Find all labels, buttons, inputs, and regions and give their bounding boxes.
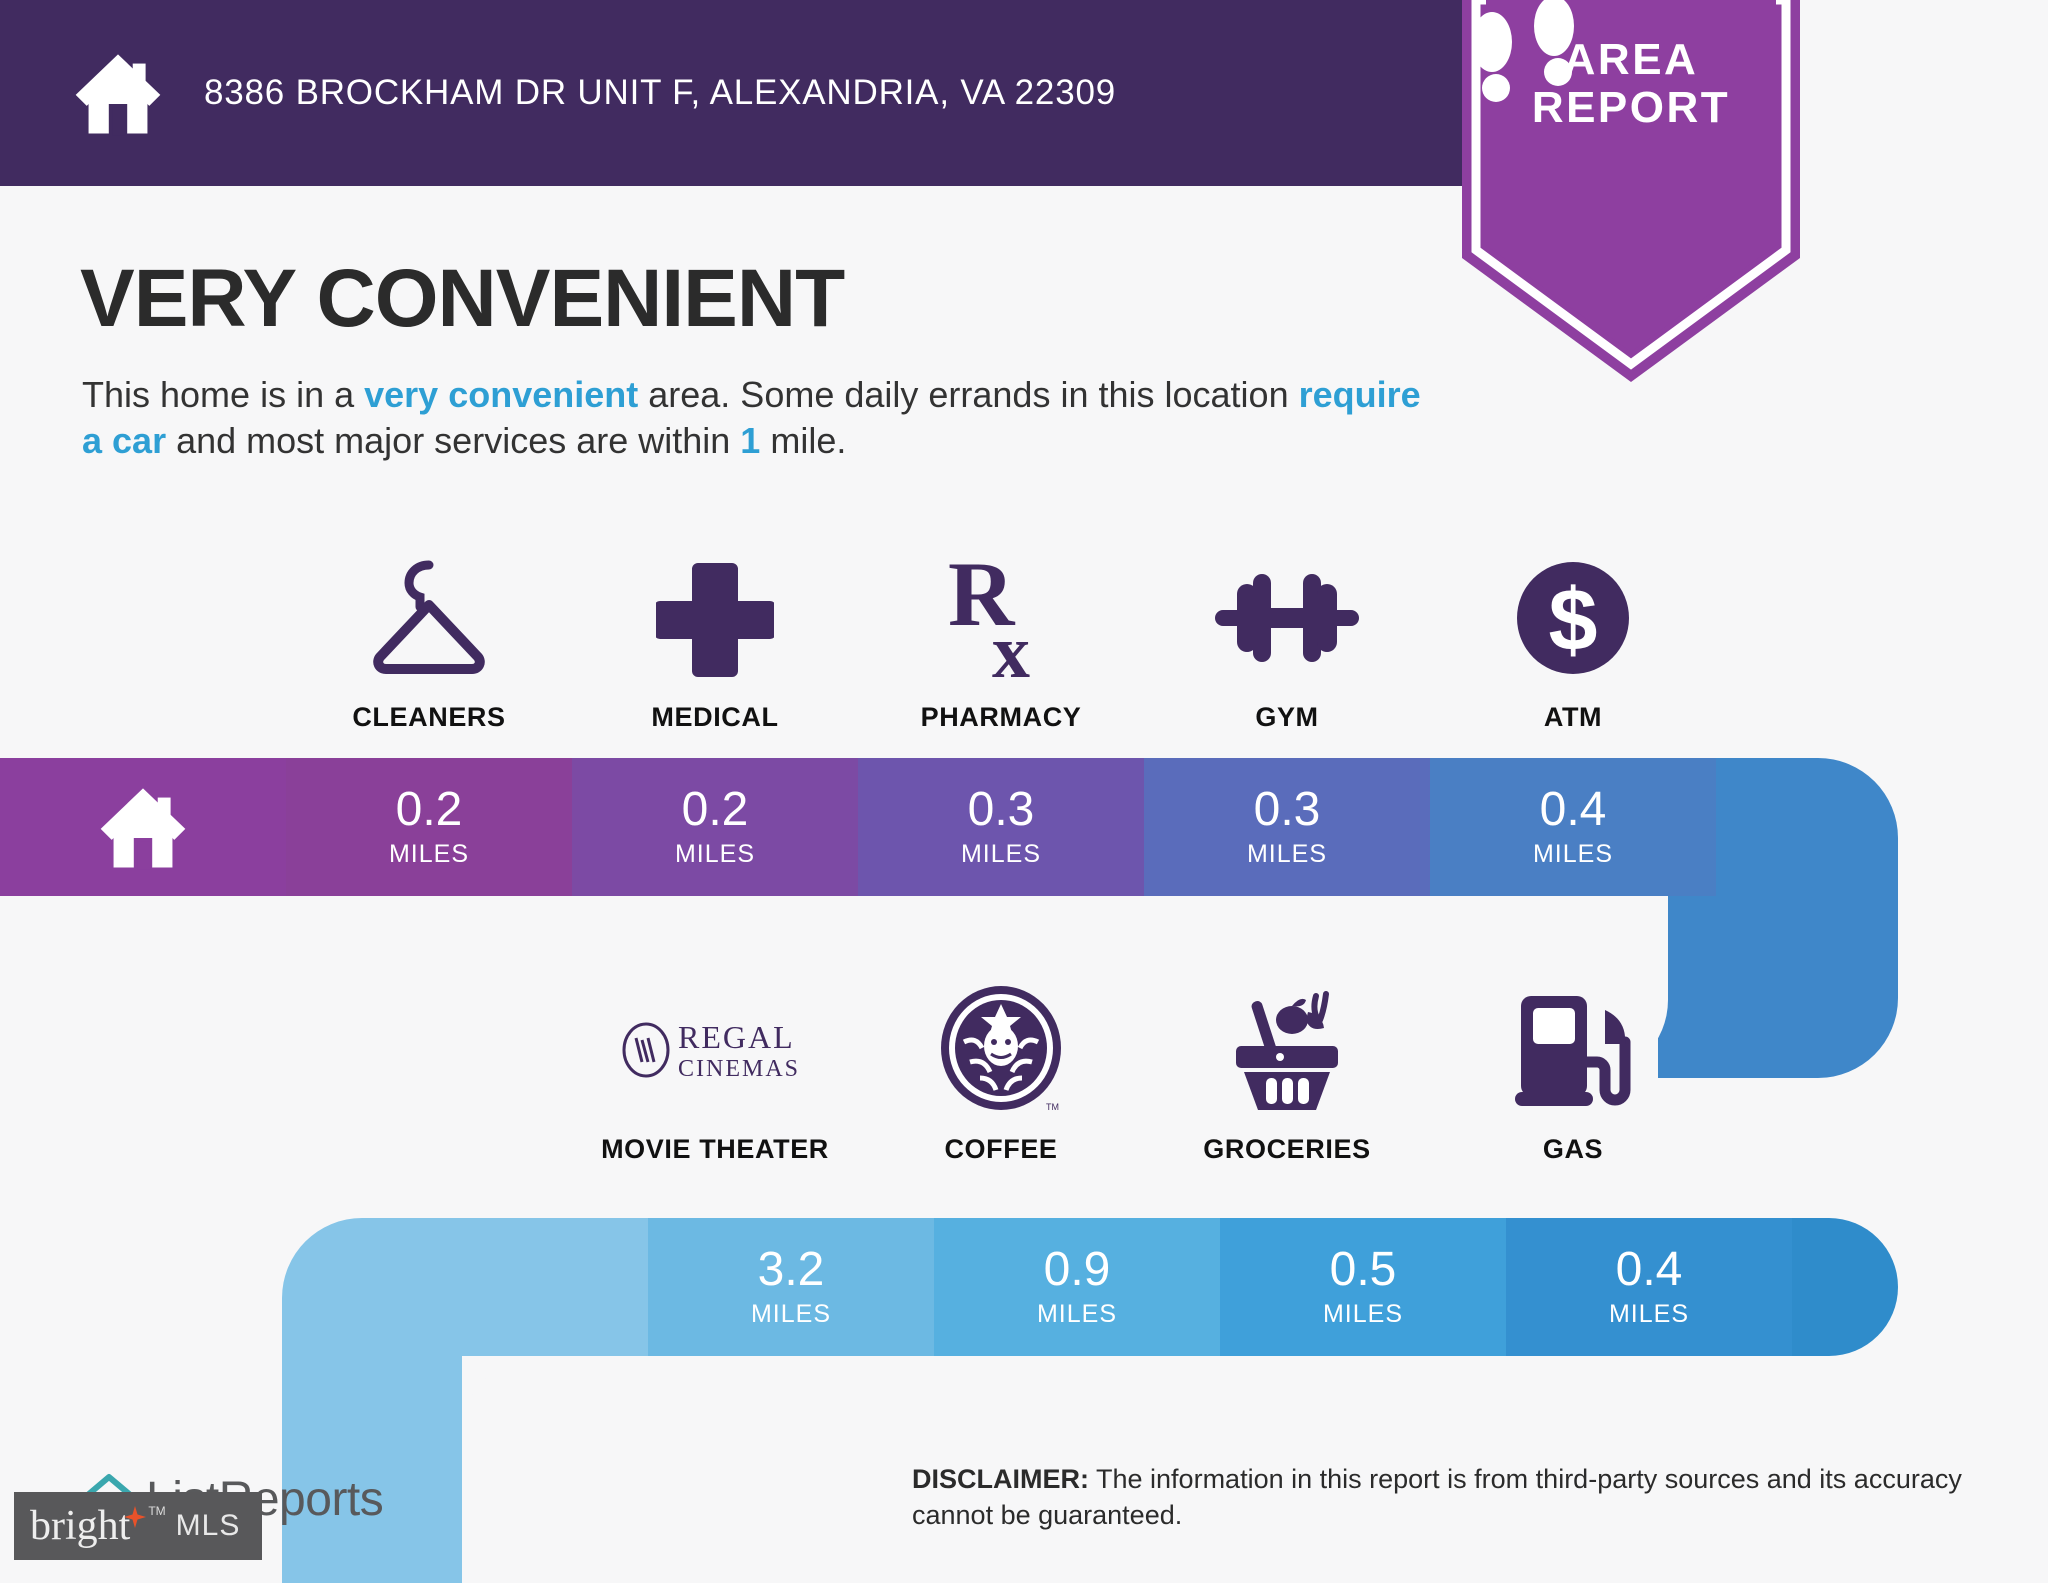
distance-value: 0.9 <box>1044 1246 1111 1294</box>
description-text: This home is in a very convenient area. … <box>82 372 1442 464</box>
distance-unit: MILES <box>1247 840 1327 869</box>
row2-spacer-b <box>286 980 572 1165</box>
desc-part-1: This home is in a <box>82 374 364 415</box>
distance-value: 3.2 <box>758 1246 825 1294</box>
desc-part-2: area. Some daily errands in this locatio… <box>638 374 1298 415</box>
amenity-label: COFFEE <box>944 1134 1057 1165</box>
distance-segment: 0.9 MILES <box>934 1218 1220 1356</box>
distance-unit: MILES <box>751 1300 831 1329</box>
distance-segment: 0.2 MILES <box>286 758 572 896</box>
amenity-label: GAS <box>1543 1134 1603 1165</box>
amenity-icon-row-1: CLEANERS MEDICAL R x PHARMACY <box>0 548 2048 733</box>
header-bar: 8386 BROCKHAM DR UNIT F, ALEXANDRIA, VA … <box>0 0 1462 186</box>
disclaimer-label: DISCLAIMER: <box>912 1464 1089 1494</box>
regal-cinemas-logo: REGAL CINEMAS <box>620 980 810 1120</box>
distance-bar-row-1: 0.2 MILES 0.2 MILES 0.3 MILES 0.3 MILES … <box>0 758 1810 896</box>
area-report-badge: AREA REPORT <box>1462 0 1800 382</box>
amenity-medical: MEDICAL <box>572 548 858 733</box>
distance-unit: MILES <box>1533 840 1613 869</box>
bar-2-lead-segment <box>362 1218 648 1356</box>
desc-part-4: mile. <box>760 420 846 461</box>
cross-icon <box>656 548 774 688</box>
distance-value: 0.2 <box>682 786 749 834</box>
bright-wordmark: bright <box>30 1502 130 1550</box>
distance-value: 0.4 <box>1616 1246 1683 1294</box>
distance-value: 0.3 <box>968 786 1035 834</box>
distance-bar-row-2: 3.2 MILES 0.9 MILES 0.5 MILES 0.4 MILES <box>362 1218 1810 1356</box>
distance-unit: MILES <box>675 840 755 869</box>
starbucks-logo: TM <box>936 980 1066 1120</box>
amenity-label: MOVIE THEATER <box>601 1134 829 1165</box>
distance-value: 0.2 <box>396 786 463 834</box>
basket-icon <box>1220 980 1354 1120</box>
page-title: VERY CONVENIENT <box>80 252 844 346</box>
trademark-symbol: TM <box>148 1504 165 1518</box>
gas-pump-icon <box>1513 980 1633 1120</box>
amenity-label: PHARMACY <box>921 702 1082 733</box>
bar-2-head-mask <box>462 1356 762 1583</box>
area-report-page: 8386 BROCKHAM DR UNIT F, ALEXANDRIA, VA … <box>0 0 2048 1583</box>
amenity-coffee: TM COFFEE <box>858 980 1144 1165</box>
distance-unit: MILES <box>1037 1300 1117 1329</box>
desc-highlight-3: 1 <box>740 420 760 461</box>
row1-spacer <box>0 548 286 733</box>
distance-unit: MILES <box>961 840 1041 869</box>
star-icon <box>124 1506 146 1528</box>
disclaimer-text: DISCLAIMER: The information in this repo… <box>912 1462 1972 1533</box>
distance-segment: 3.2 MILES <box>648 1218 934 1356</box>
rx-icon: R x <box>946 548 1056 688</box>
footprints-icon <box>1462 0 1592 110</box>
distance-segment: 0.3 MILES <box>858 758 1144 896</box>
amenity-gas: GAS <box>1430 980 1716 1165</box>
distance-segment: 0.2 MILES <box>572 758 858 896</box>
amenity-label: GYM <box>1255 702 1318 733</box>
amenity-label: MEDICAL <box>651 702 778 733</box>
amenity-movie-theater: REGAL CINEMAS MOVIE THEATER <box>572 980 858 1165</box>
svg-text:CINEMAS: CINEMAS <box>678 1056 800 1082</box>
amenity-atm: $ ATM <box>1430 548 1716 733</box>
bright-mls-watermark: bright TM MLS <box>14 1492 262 1560</box>
mls-wordmark: MLS <box>176 1509 241 1543</box>
distance-value: 0.4 <box>1540 786 1607 834</box>
distance-segment: 0.3 MILES <box>1144 758 1430 896</box>
amenity-label: CLEANERS <box>352 702 505 733</box>
hanger-icon <box>366 548 492 688</box>
dollar-coin-icon: $ <box>1515 548 1631 688</box>
desc-part-3: and most major services are within <box>166 420 740 461</box>
row2-spacer-a <box>0 980 286 1165</box>
home-icon <box>72 50 164 136</box>
amenity-cleaners: CLEANERS <box>286 548 572 733</box>
dumbbell-icon <box>1215 548 1359 688</box>
svg-text:$: $ <box>1549 570 1598 669</box>
amenity-pharmacy: R x PHARMACY <box>858 548 1144 733</box>
amenity-label: GROCERIES <box>1203 1134 1370 1165</box>
svg-text:REGAL: REGAL <box>678 1019 795 1055</box>
home-icon <box>97 784 189 870</box>
svg-text:TM: TM <box>1046 1102 1059 1112</box>
distance-value: 0.5 <box>1330 1246 1397 1294</box>
distance-unit: MILES <box>389 840 469 869</box>
distance-segment: 0.5 MILES <box>1220 1218 1506 1356</box>
amenity-icon-row-2: REGAL CINEMAS MOVIE THEATER <box>0 980 2048 1165</box>
desc-highlight-1: very convenient <box>364 374 638 415</box>
amenity-label: ATM <box>1544 702 1602 733</box>
property-address: 8386 BROCKHAM DR UNIT F, ALEXANDRIA, VA … <box>204 73 1116 113</box>
distance-value: 0.3 <box>1254 786 1321 834</box>
distance-unit: MILES <box>1323 1300 1403 1329</box>
amenity-groceries: GROCERIES <box>1144 980 1430 1165</box>
home-marker-segment <box>0 758 286 896</box>
amenity-gym: GYM <box>1144 548 1430 733</box>
distance-segment: 0.4 MILES <box>1506 1218 1792 1356</box>
distance-segment: 0.4 MILES <box>1430 758 1716 896</box>
svg-text:x: x <box>992 610 1030 681</box>
distance-unit: MILES <box>1609 1300 1689 1329</box>
